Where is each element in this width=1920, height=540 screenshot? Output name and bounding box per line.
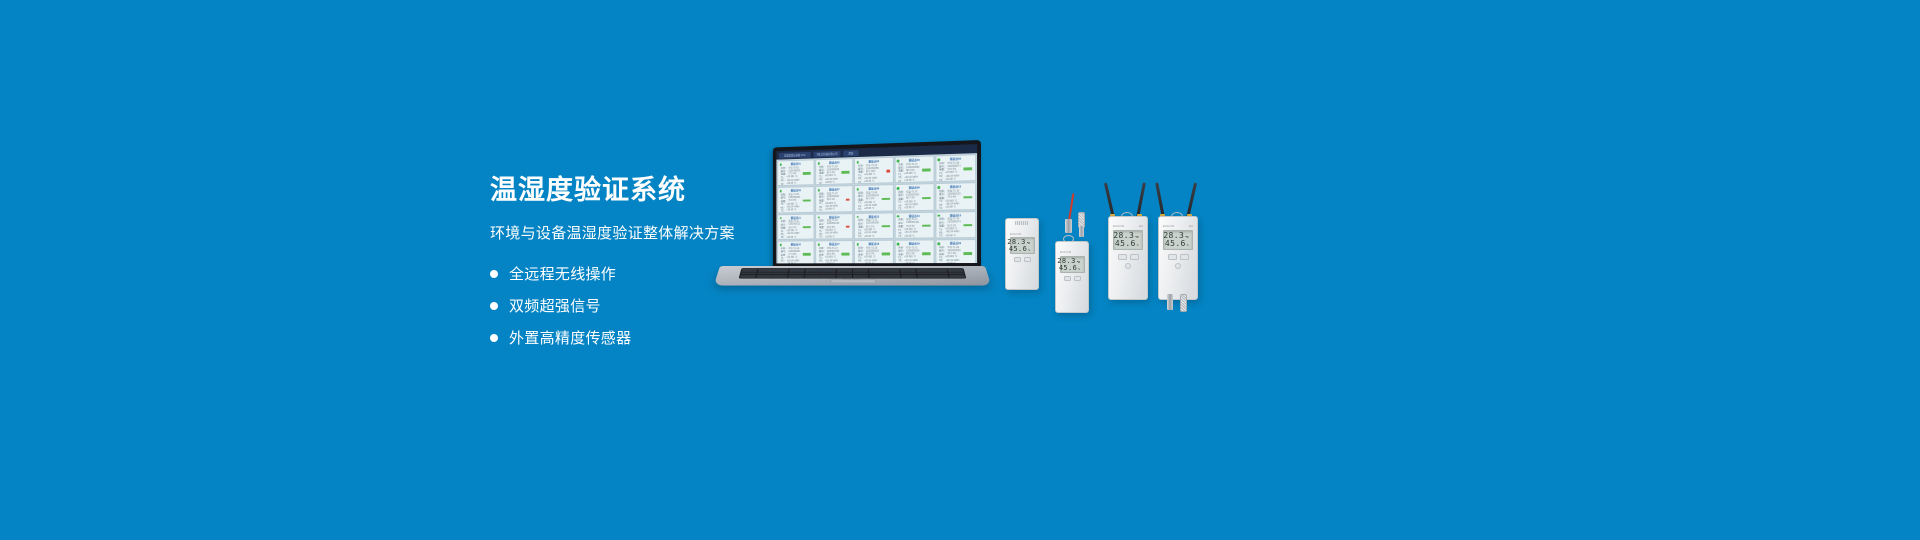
battery-indicator — [803, 199, 811, 201]
keyboard-key[interactable] — [772, 277, 788, 278]
probe-sensor-mesh-icon — [1180, 294, 1187, 312]
humidity-unit: % — [1137, 244, 1139, 247]
status-dot-icon — [938, 242, 940, 244]
sensor-card[interactable]: 验证点20名称：常温-T1-20编号：1320050229电量：75.7 0%T… — [935, 239, 976, 263]
row-value: +25.68 ℃ — [904, 262, 915, 263]
device-key-right[interactable] — [1180, 254, 1189, 260]
temperature-unit: ℃ — [1185, 236, 1189, 239]
sensor-card-rows: 名称：常温-T1-12编号：1320050145电量：63.2 5%T1：+25… — [817, 219, 852, 239]
battery-indicator — [963, 168, 972, 171]
sensor-card-row: T2：+25.68 ℃ — [781, 262, 811, 263]
device-key-left[interactable] — [1118, 254, 1127, 260]
sensor-card[interactable]: 验证点07名称：常温-T1-07编号：1320050097电量：83.6 1%T… — [815, 185, 853, 212]
keyboard-key[interactable] — [820, 277, 836, 278]
sensor-card-row: T2：+25.68 ℃ — [898, 178, 930, 182]
row-value: +25.68 ℃ — [786, 263, 796, 264]
device-key-left[interactable] — [1014, 257, 1021, 262]
row-value: +25.68 ℃ — [945, 234, 956, 237]
sensor-card[interactable]: 验证点02名称：常温-T1-02编号：1320050042电量：90.1 0%T… — [815, 158, 853, 185]
sensor-card-rows: 名称：常温-T1-16编号：1320050187电量：77.3 6%T1：+25… — [779, 246, 813, 263]
row-label: T2： — [781, 235, 786, 239]
row-value: +25.68 ℃ — [825, 181, 835, 184]
row-value: +25.68 ℃ — [786, 182, 796, 185]
device-brand: ENLON — [1163, 224, 1174, 228]
sensor-card-row: T2：+25.68 ℃ — [781, 235, 811, 239]
row-label: T2： — [939, 178, 944, 182]
sensor-card[interactable]: 验证点08名称：常温-T1-08编号：1320050103电量：91.2 2%T… — [854, 184, 893, 211]
row-label: T2： — [939, 234, 944, 238]
feature-label: 全远程无线操作 — [509, 263, 616, 284]
sensor-card[interactable]: 验证点16名称：常温-T1-16编号：1320050187电量：77.3 6%T… — [777, 240, 814, 263]
sensor-card-row: T2：+25.68 ℃ — [781, 181, 811, 185]
status-dot-icon — [897, 243, 899, 245]
probe-stem-icon — [1167, 294, 1173, 310]
device-key-left[interactable] — [1064, 276, 1071, 281]
status-dot-icon — [897, 215, 899, 217]
sensor-card[interactable]: 验证点01名称：常温-T1-01编号：1320050031电量：77.2 4%T… — [777, 159, 814, 186]
battery-indicator — [963, 252, 972, 254]
sensor-card-row: T2：+25.68 ℃ — [819, 235, 850, 239]
row-label: T2： — [781, 262, 786, 263]
app-company: 马扎克科技有限公司 — [813, 150, 840, 157]
row-value: +25.68 ℃ — [825, 262, 835, 263]
lcd-display: 28.3 ℃ 45.6 % — [1060, 256, 1085, 273]
battery-indicator — [842, 253, 850, 255]
status-dot-icon — [818, 189, 820, 191]
alarm-indicator — [886, 170, 890, 172]
status-dot-icon — [779, 190, 781, 192]
vent-grille-icon — [1015, 221, 1029, 225]
device-key-right[interactable] — [1024, 257, 1031, 262]
keyboard-key[interactable] — [917, 277, 933, 278]
row-value: +25.68 ℃ — [904, 234, 915, 237]
status-dot-icon — [818, 162, 820, 164]
sensor-card-rows: 名称：常温-T1-17编号：1320050190电量：89.0 8%T1：+25… — [817, 246, 852, 263]
lcd-display: 28.3 ℃ 45.6 % — [1163, 230, 1193, 250]
app-title: 温湿度验证系统 V3.2 — [779, 151, 811, 158]
status-dot-icon — [818, 243, 820, 245]
sensor-card-row: T2：+25.68 ℃ — [939, 262, 972, 263]
humidity-reading: 45.6 % — [1165, 240, 1189, 248]
device-keypad[interactable] — [1118, 254, 1139, 260]
row-label: T2： — [898, 234, 903, 238]
sensor-card-row: T2：+25.68 ℃ — [858, 262, 890, 263]
sensor-card-row: T2：+25.68 ℃ — [819, 180, 850, 184]
row-value: +25.68 ℃ — [904, 207, 915, 210]
sensor-card-rows: 名称：常温-T1-04编号：1320050068电量：88.3 0%T1：+25… — [896, 161, 932, 182]
sensor-card-rows: 名称：常温-T1-18编号：1320050203电量：66.9 7%T1：+25… — [856, 246, 891, 264]
row-label: T2： — [858, 262, 863, 263]
humidity-reading: 45.6 % — [1059, 265, 1081, 272]
sensor-card-row: T2：+25.68 ℃ — [939, 177, 972, 181]
sensor-card[interactable]: 验证点19名称：常温-T1-19编号：1320050216电量：84.2 3%T… — [894, 239, 934, 263]
antenna-right-icon — [1136, 182, 1146, 218]
battery-indicator — [922, 197, 931, 200]
battery-indicator — [881, 253, 889, 255]
battery-indicator — [842, 171, 850, 174]
sensor-card[interactable]: 验证点14名称：常温-T1-14编号：1320050161电量：70.8 4%T… — [894, 211, 934, 238]
device-recorder-small-left: ENLON 28.3 ℃ 45.6 % — [1005, 218, 1039, 290]
humidity-reading: 45.6 % — [1009, 246, 1031, 253]
battery-indicator — [881, 198, 889, 200]
status-dot-icon — [779, 163, 781, 165]
sensor-card-rows: 名称：常温-T1-19编号：1320050216电量：84.2 3%T1：+25… — [896, 245, 932, 263]
sensor-card-row: T2：+25.68 ℃ — [781, 208, 811, 212]
row-value: +25.68 ℃ — [864, 180, 874, 183]
row-label: T2： — [898, 262, 903, 263]
row-label: T2： — [939, 206, 944, 210]
row-value: +25.68 ℃ — [945, 206, 956, 209]
sensor-card[interactable]: 验证点06名称：常温-T1-06编号：1320050084电量：79.9 9%T… — [777, 186, 814, 213]
device-brand: ENLON — [1060, 250, 1071, 254]
device-recorder-small-probe: ENLON 28.3 ℃ 45.6 % — [1055, 195, 1089, 313]
row-value: +25.68 ℃ — [864, 207, 874, 210]
status-dot-icon — [897, 187, 899, 189]
temperature-unit: ℃ — [1027, 242, 1031, 245]
sensor-card[interactable]: 验证点03名称：常温-T1-03编号：1320050055电量：65.4 00%… — [854, 157, 893, 185]
sensor-card[interactable]: 验证点11名称：常温-T1-11编号：1320050132电量：86.4 7%T… — [777, 213, 814, 239]
laptop-lid: 温湿度验证系统 V3.2 马扎克科技有限公司 帮助 验证点01名称：常温-T1-… — [773, 140, 981, 270]
device-key-right[interactable] — [1074, 276, 1081, 281]
device-model: H3 — [1139, 224, 1143, 228]
sensor-card[interactable]: 验证点10名称：常温-T1-10编号：1320050129电量：74.5 8%T… — [935, 182, 976, 210]
battery-indicator — [803, 253, 811, 255]
sensor-card-grid: 验证点01名称：常温-T1-01编号：1320050031电量：77.2 4%T… — [776, 153, 977, 263]
keyboard-key[interactable] — [933, 277, 949, 278]
device-keypad[interactable] — [1168, 254, 1189, 260]
antenna-left-icon — [1155, 182, 1165, 218]
sensor-card-row: T2：+25.68 ℃ — [819, 262, 850, 263]
device-brand: ENLON — [1010, 232, 1021, 236]
sensor-card[interactable]: 验证点09名称：常温-T1-09编号：1320050116电量：68.7 3%T… — [894, 183, 934, 211]
battery-indicator — [922, 253, 931, 255]
row-value: +25.68 ℃ — [825, 208, 835, 211]
sensor-card-row: T2：+25.68 ℃ — [898, 262, 930, 263]
device-recorder-wireless-right: ENLON H3 28.3 ℃ 45.6 % — [1158, 182, 1198, 300]
sensor-card-row: T2：+25.68 ℃ — [858, 207, 890, 211]
row-value: +25.68 ℃ — [864, 262, 874, 263]
row-label: T2： — [858, 207, 863, 211]
probe-connector-icon — [1065, 219, 1072, 233]
sensor-card-row: T2：+25.68 ℃ — [898, 234, 930, 238]
bullet-dot-icon — [490, 334, 498, 342]
antenna-left-icon — [1104, 183, 1115, 219]
sensor-card[interactable]: 验证点18名称：常温-T1-18编号：1320050203电量：66.9 7%T… — [854, 240, 893, 264]
sensor-card-row: T2：+25.68 ℃ — [939, 205, 972, 209]
row-value: +25.68 ℃ — [945, 178, 956, 181]
row-label: T2： — [819, 235, 824, 239]
laptop-illustration: 温湿度验证系统 V3.2 马扎克科技有限公司 帮助 验证点01名称：常温-T1-… — [720, 140, 985, 300]
antenna-right-icon — [1186, 183, 1197, 219]
humidity-unit: % — [1078, 268, 1080, 271]
row-label: T2： — [858, 180, 863, 184]
laptop-brand-label: HUAWEI — [843, 278, 862, 281]
row-value: +25.68 ℃ — [825, 235, 835, 238]
probe-cable-red — [1068, 193, 1074, 221]
temperature-unit: ℃ — [1077, 261, 1081, 264]
feature-label: 外置高精度传感器 — [509, 327, 631, 348]
humidity-unit: % — [1028, 249, 1030, 252]
battery-indicator — [803, 172, 811, 175]
sensor-card-rows: 名称：常温-T1-07编号：1320050097电量：83.6 1%T1：+25… — [817, 191, 852, 211]
keyboard-key[interactable] — [885, 277, 901, 278]
sensor-card-rows: 名称：常温-T1-06编号：1320050084电量：79.9 9%T1：+25… — [779, 192, 813, 212]
device-brand: ENLON — [1113, 224, 1124, 228]
row-value: +25.68 ℃ — [786, 209, 796, 212]
sensor-card[interactable]: 验证点17名称：常温-T1-17编号：1320050190电量：89.0 8%T… — [815, 240, 853, 263]
row-label: T2： — [819, 208, 824, 212]
device-key-left[interactable] — [1168, 254, 1177, 260]
device-key-right[interactable] — [1130, 254, 1139, 260]
device-keypad[interactable] — [1064, 276, 1081, 281]
status-dot-icon — [938, 158, 940, 161]
bullet-dot-icon — [490, 302, 498, 310]
sensor-card-rows: 名称：常温-T1-11编号：1320050132电量：86.4 7%T1：+25… — [779, 219, 813, 239]
device-recorder-wireless-left: ENLON H3 28.3 ℃ 45.6 % — [1108, 182, 1148, 300]
sensor-card[interactable]: 验证点13名称：常温-T1-13编号：1320050158电量：93.1 1%T… — [854, 212, 893, 239]
sensor-card-rows: 名称：常温-T1-15编号：1320050174电量：81.5 2%T1：+25… — [937, 217, 974, 238]
probe-stem-icon — [1079, 226, 1084, 237]
keyboard-key[interactable] — [756, 277, 772, 278]
list-item: 外置高精度传感器 — [490, 325, 820, 351]
product-banner: 温湿度验证系统 环境与设备温湿度验证整体解决方案 全远程无线操作 双频超强信号 … — [0, 0, 1920, 540]
keyboard-key[interactable] — [788, 277, 804, 278]
sensor-card-rows: 名称：常温-T1-20编号：1320050229电量：75.7 0%T1：+25… — [937, 245, 974, 263]
sensor-card-row: T2：+25.68 ℃ — [858, 179, 890, 183]
alarm-indicator — [846, 198, 850, 200]
sensor-card-row: T2：+25.68 ℃ — [858, 235, 890, 239]
row-label: T2： — [781, 209, 786, 213]
device-power-button[interactable] — [1175, 263, 1181, 269]
sensor-card-rows: 名称：常温-T1-01编号：1320050031电量：77.2 4%T1：+25… — [779, 165, 813, 185]
sensor-card-row: T2：+25.68 ℃ — [819, 208, 850, 212]
laptop-screen: 温湿度验证系统 V3.2 马扎克科技有限公司 帮助 验证点01名称：常温-T1-… — [776, 144, 977, 263]
bullet-dot-icon — [490, 270, 498, 278]
lcd-display: 28.3 ℃ 45.6 % — [1113, 230, 1143, 250]
sensor-card-row: T2：+25.68 ℃ — [898, 206, 930, 210]
row-label: T2： — [858, 235, 863, 239]
sensor-card[interactable]: 验证点05名称：常温-T1-05编号：1320050071电量：72.0 6%T… — [935, 154, 976, 182]
sensor-card-rows: 名称：常温-T1-05编号：1320050071电量：72.0 6%T1：+25… — [937, 160, 974, 181]
sensor-card-row: T2：+25.68 ℃ — [939, 234, 972, 238]
keyboard-key[interactable] — [804, 277, 820, 278]
keyboard-key[interactable] — [950, 277, 966, 278]
row-label: T2： — [898, 206, 903, 210]
sensor-card-rows: 名称：常温-T1-09编号：1320050116电量：68.7 3%T1：+25… — [896, 189, 932, 210]
sensor-card-rows: 名称：常温-T1-02编号：1320050042电量：90.1 0%T1：+25… — [817, 164, 852, 184]
keyboard-key[interactable] — [901, 277, 917, 278]
device-keypad[interactable] — [1014, 257, 1031, 262]
keyboard-key[interactable] — [740, 277, 756, 278]
sensor-card-rows: 名称：常温-T1-14编号：1320050161电量：70.8 4%T1：+25… — [896, 217, 932, 237]
sensor-card-rows: 名称：常温-T1-03编号：1320050055电量：65.4 00%T1：+2… — [856, 163, 891, 184]
sensor-card-rows: 名称：常温-T1-10编号：1320050129电量：74.5 8%T1：+25… — [937, 188, 974, 209]
status-dot-icon — [897, 160, 899, 163]
feature-label: 双频超强信号 — [509, 295, 601, 316]
row-label: T2： — [939, 262, 944, 263]
status-dot-icon — [938, 186, 940, 189]
row-value: +25.68 ℃ — [945, 262, 956, 263]
row-value: +25.68 ℃ — [904, 179, 915, 182]
sensor-card-rows: 名称：常温-T1-13编号：1320050158电量：93.1 1%T1：+25… — [856, 218, 891, 238]
keyboard-key[interactable] — [869, 277, 885, 278]
row-value: +25.68 ℃ — [786, 236, 796, 239]
status-dot-icon — [779, 244, 781, 246]
sensor-card[interactable]: 验证点04名称：常温-T1-04编号：1320050068电量：88.3 0%T… — [894, 156, 934, 184]
app-help-button[interactable]: 帮助 — [843, 150, 859, 156]
battery-indicator — [963, 196, 972, 199]
device-power-button[interactable] — [1125, 263, 1131, 269]
device-model: H3 — [1189, 224, 1193, 228]
laptop-base: HUAWEI — [714, 266, 992, 286]
temperature-unit: ℃ — [1135, 236, 1139, 239]
sensor-card-rows: 名称：常温-T1-08编号：1320050103电量：91.2 2%T1：+25… — [856, 190, 891, 210]
battery-indicator — [922, 169, 931, 172]
sensor-card[interactable]: 验证点15名称：常温-T1-15编号：1320050174电量：81.5 2%T… — [935, 211, 976, 239]
row-label: T2： — [781, 182, 786, 186]
row-label: T2： — [898, 179, 903, 183]
row-value: +25.68 ℃ — [864, 235, 874, 238]
humidity-reading: 45.6 % — [1115, 240, 1139, 248]
status-dot-icon — [938, 214, 940, 217]
sensor-card[interactable]: 验证点12名称：常温-T1-12编号：1320050145电量：63.2 5%T… — [815, 213, 853, 240]
humidity-unit: % — [1187, 244, 1189, 247]
lcd-display: 28.3 ℃ 45.6 % — [1010, 237, 1035, 254]
row-label: T2： — [819, 262, 824, 263]
row-label: T2： — [819, 181, 824, 185]
